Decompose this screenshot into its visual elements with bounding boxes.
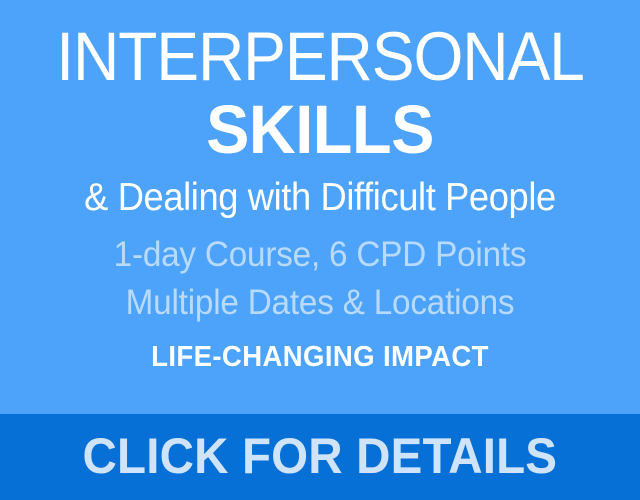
banner-detail-course-info: 1-day Course, 6 CPD Points bbox=[16, 231, 624, 279]
cta-button-label: CLICK FOR DETAILS bbox=[83, 430, 558, 484]
banner-detail-dates-locations: Multiple Dates & Locations bbox=[16, 279, 624, 327]
banner-headline-line-2: SKILLS bbox=[19, 94, 621, 166]
banner-headline-line-1: INTERPERSONAL bbox=[22, 22, 617, 92]
banner-message-panel: INTERPERSONAL SKILLS & Dealing with Diff… bbox=[0, 0, 640, 414]
click-for-details-button[interactable]: CLICK FOR DETAILS bbox=[0, 414, 640, 500]
banner-subtitle: & Dealing with Difficult People bbox=[22, 175, 617, 221]
banner-impact-statement: LIFE-CHANGING IMPACT bbox=[16, 339, 624, 375]
advertisement-banner[interactable]: INTERPERSONAL SKILLS & Dealing with Diff… bbox=[0, 0, 640, 500]
